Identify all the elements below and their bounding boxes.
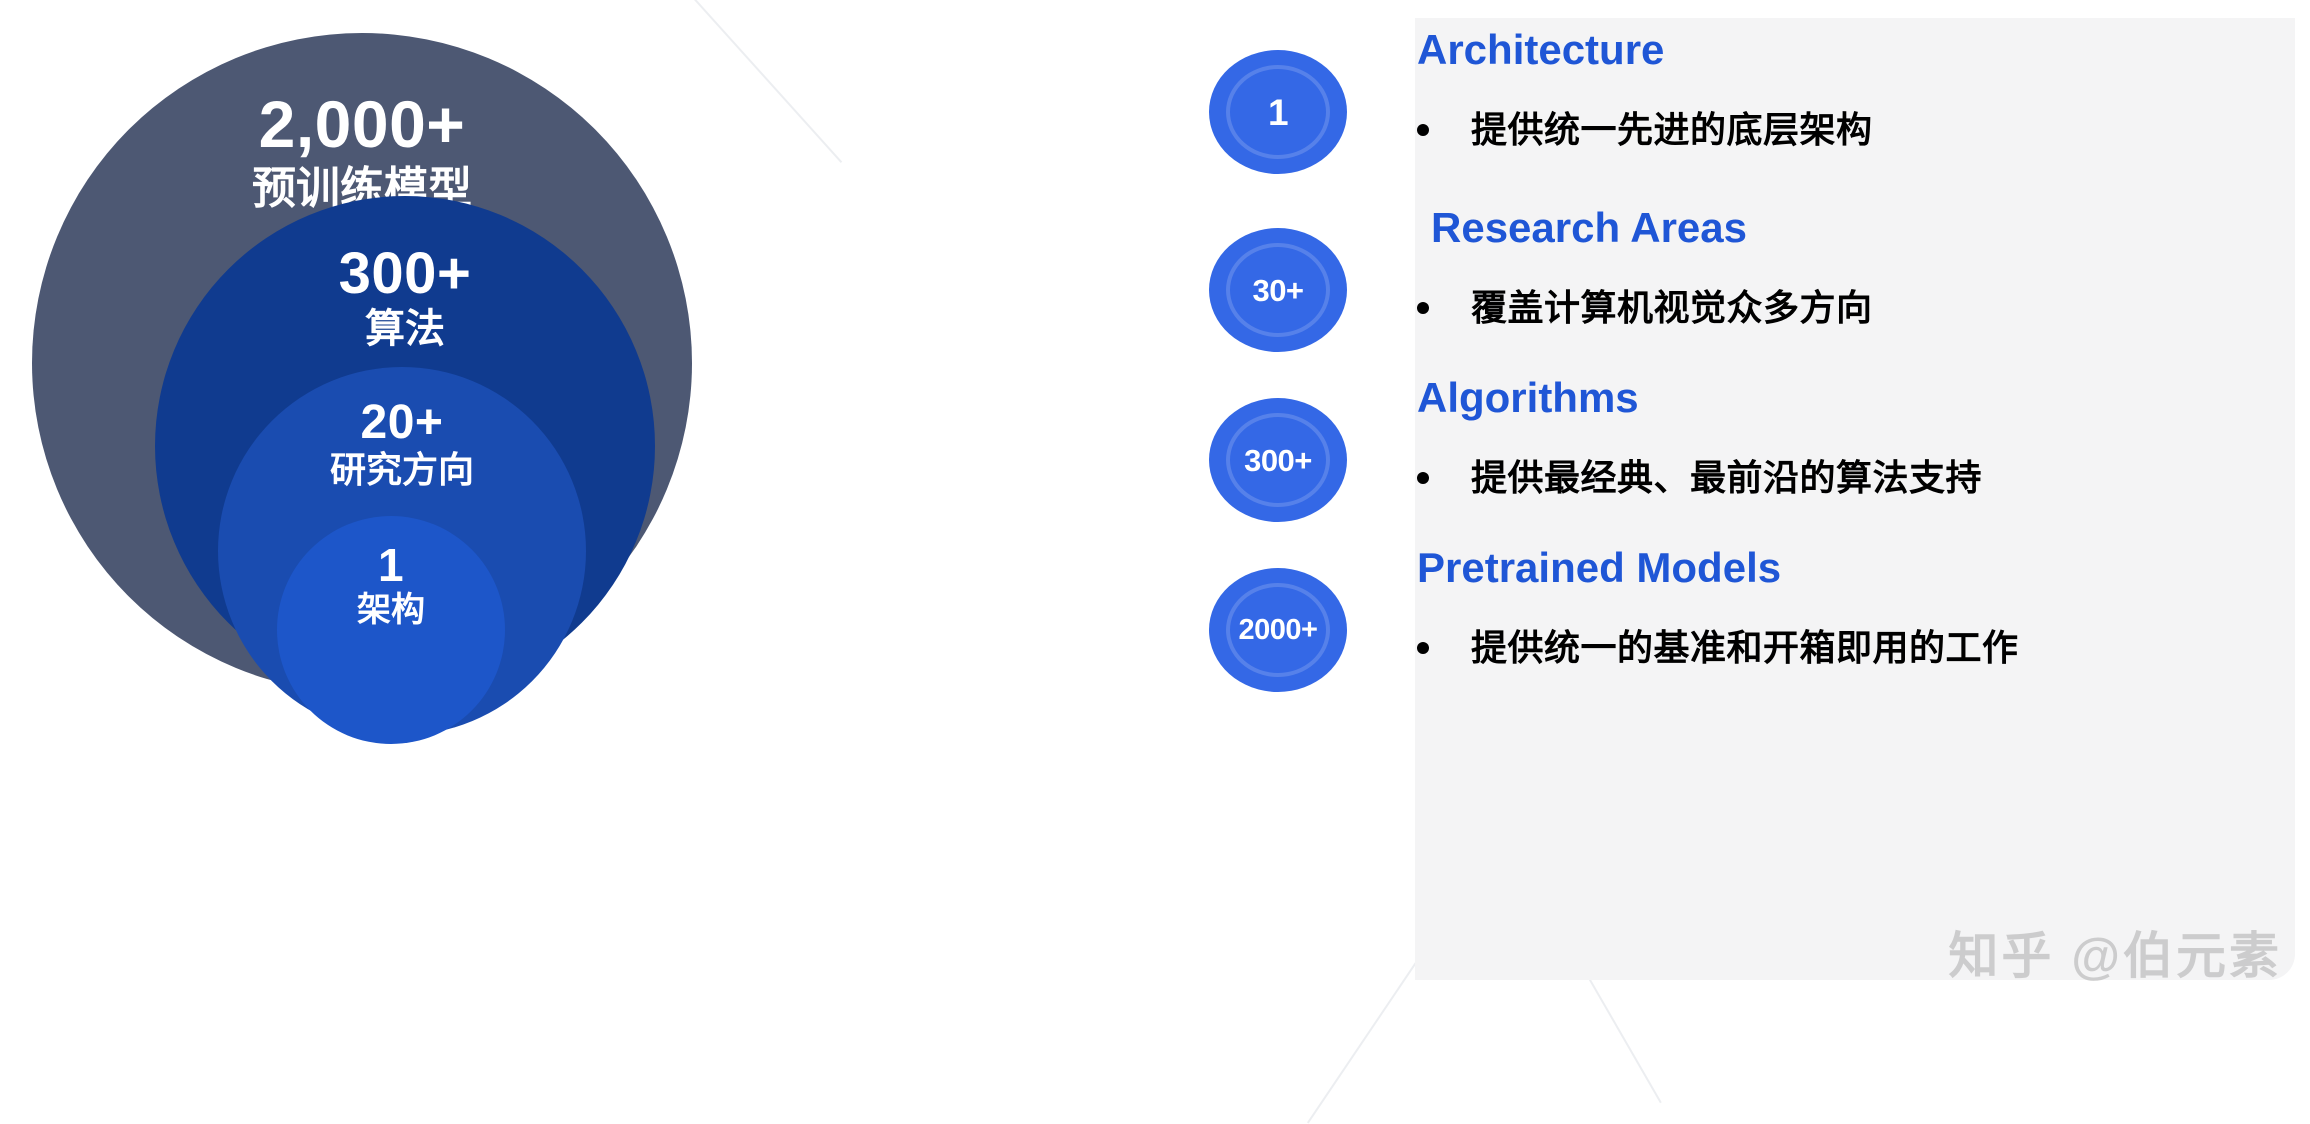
- badge-research-areas: 30+: [1209, 228, 1347, 352]
- slide-canvas: 2,000+ 预训练模型 300+ 算法 20+ 研究方向 1 架构 1 Arc…: [0, 0, 2310, 1010]
- ring-number: 2,000+: [259, 91, 466, 158]
- feature-title: Pretrained Models: [1417, 546, 2297, 590]
- ring-number: 20+: [361, 399, 444, 448]
- ring-number: 1: [378, 542, 404, 589]
- bullet-dot-icon: [1417, 124, 1429, 136]
- feature-text-block: Architecture 提供统一先进的底层架构: [1417, 28, 2297, 152]
- feature-text-block: Algorithms 提供最经典、最前沿的算法支持: [1417, 376, 2297, 500]
- feature-title: Research Areas: [1417, 206, 2297, 250]
- ring-number: 300+: [339, 244, 472, 303]
- badge-architecture: 1: [1209, 50, 1347, 174]
- ring-label: 算法: [365, 307, 445, 352]
- feature-bullet-text: 覆盖计算机视觉众多方向: [1471, 286, 1873, 330]
- feature-bullet: 提供最经典、最前沿的算法支持: [1417, 456, 2297, 500]
- badge-number: 30+: [1252, 275, 1303, 306]
- badge-algorithms: 300+: [1209, 398, 1347, 522]
- badge-number: 1: [1268, 94, 1288, 131]
- ring-label: 架构: [357, 591, 425, 629]
- feature-bullet-text: 提供最经典、最前沿的算法支持: [1471, 456, 1982, 500]
- badge-number: 300+: [1244, 445, 1312, 476]
- feature-item-architecture[interactable]: 1 Architecture 提供统一先进的底层架构: [1195, 28, 2310, 228]
- feature-text-block: Research Areas 覆盖计算机视觉众多方向: [1417, 206, 2297, 330]
- badge-number: 2000+: [1239, 616, 1318, 645]
- bullet-dot-icon: [1417, 472, 1429, 484]
- feature-bullet: 提供统一先进的底层架构: [1417, 108, 2297, 152]
- feature-bullet: 提供统一的基准和开箱即用的工作: [1417, 626, 2297, 670]
- badge-pretrained-models: 2000+: [1209, 568, 1347, 692]
- feature-title: Architecture: [1417, 28, 2297, 72]
- concentric-circle-diagram: 2,000+ 预训练模型 300+ 算法 20+ 研究方向 1 架构: [0, 0, 1120, 1010]
- feature-title: Algorithms: [1417, 376, 2297, 420]
- feature-item-pretrained-models[interactable]: 2000+ Pretrained Models 提供统一的基准和开箱即用的工作: [1195, 546, 2310, 746]
- feature-text-block: Pretrained Models 提供统一的基准和开箱即用的工作: [1417, 546, 2297, 670]
- ring-architecture: 1 架构: [277, 516, 505, 744]
- feature-bullet-text: 提供统一先进的底层架构: [1471, 108, 1873, 152]
- ring-label: 研究方向: [330, 450, 474, 490]
- bullet-dot-icon: [1417, 642, 1429, 654]
- feature-bullet-text: 提供统一的基准和开箱即用的工作: [1471, 626, 2019, 670]
- bullet-dot-icon: [1417, 302, 1429, 314]
- feature-bullet: 覆盖计算机视觉众多方向: [1417, 286, 2297, 330]
- features-list: 1 Architecture 提供统一先进的底层架构 30+ Research …: [1195, 28, 2310, 988]
